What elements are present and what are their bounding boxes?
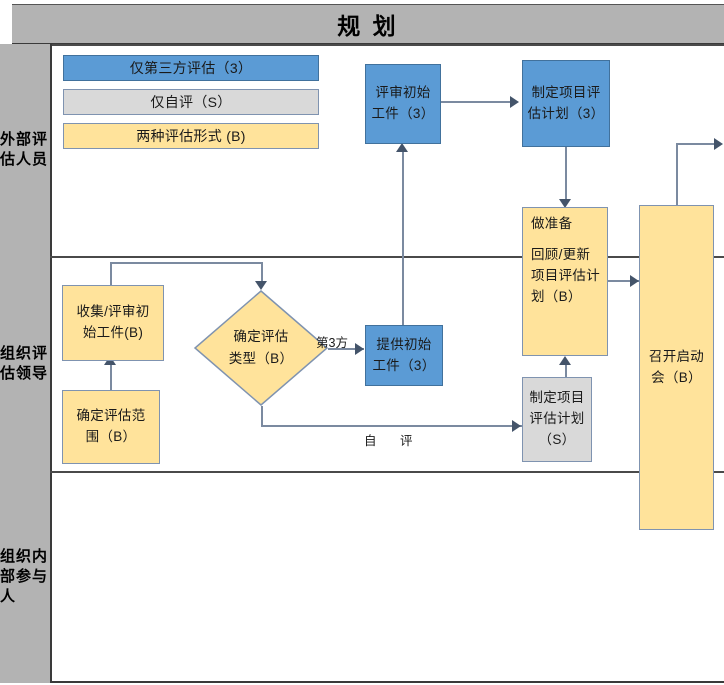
node-line: 工件（3）	[371, 104, 434, 125]
legend-item-third-party: 仅第三方评估（3）	[63, 55, 319, 81]
edge-label-self-assessment: 自 评	[364, 430, 422, 449]
node-line: 会（B）	[651, 368, 702, 389]
lane-header-external: 外部评估人员	[0, 44, 52, 256]
decision-line: 类型（B）	[229, 348, 294, 370]
legend-item-both: 两种评估形式 (B)	[63, 123, 319, 149]
arrowhead-provide-to-review	[396, 143, 408, 152]
edge-scope-to-collect	[110, 362, 112, 390]
node-make-project-plan-s[interactable]: 制定项目 评估计划 （S）	[522, 377, 592, 462]
node-provide-initial-artifacts[interactable]: 提供初始 工件（3）	[365, 325, 443, 386]
legend-label-third-party: 仅第三方评估（3）	[130, 58, 253, 78]
decision-line: 确定评估	[233, 326, 288, 348]
lane-divider-2	[50, 471, 724, 473]
node-review-initial-artifacts[interactable]: 评审初始 工件（3）	[365, 64, 441, 144]
arrowhead-prepare-to-kickoff	[630, 275, 639, 287]
lane-label-internal: 组织内部参与人	[0, 547, 50, 606]
node-line: 召开启动	[649, 347, 704, 368]
node-make-project-plan-3[interactable]: 制定项目评 估计划（3）	[522, 60, 610, 147]
frame-bottom-border	[0, 681, 724, 683]
edge-kickoff-out-right	[676, 143, 718, 145]
node-line: 制定项目评	[532, 83, 601, 104]
node-line: 项目评估计	[531, 266, 600, 287]
lane-divider-1	[50, 256, 724, 258]
lane-label-external: 外部评估人员	[0, 130, 50, 170]
lane-header-leader: 组织评估领导	[0, 256, 52, 471]
edge-kickoff-up	[676, 143, 678, 207]
node-prepare-review-update[interactable]: 做准备 回顾/更新 项目评估计 划（B）	[522, 207, 608, 356]
arrowhead-kickoff-out	[714, 138, 723, 150]
arrowhead-plans-to-prepare	[559, 356, 571, 365]
lane-label-leader: 组织评估领导	[0, 344, 50, 384]
edge-decision-self-across	[261, 425, 523, 427]
node-line: 确定评估范	[77, 406, 146, 427]
node-line: 估计划（3）	[528, 104, 605, 125]
node-collect-review-artifacts[interactable]: 收集/评审初 始工件(B)	[62, 285, 164, 361]
page-title: 规 划	[337, 7, 398, 41]
arrowhead-review-to-plan3	[510, 96, 519, 108]
diagram-canvas: 规 划 外部评估人员 组织评估领导 组织内部参与人 仅第三方评估（3） 仅自评（…	[0, 0, 724, 685]
edge-label-third-party: 第3方	[316, 332, 348, 351]
node-line: 制定项目	[529, 388, 584, 409]
node-hold-kickoff[interactable]: 召开启动 会（B）	[639, 205, 714, 530]
node-line: 回顾/更新	[531, 245, 590, 266]
lane-header-internal: 组织内部参与人	[0, 471, 52, 683]
node-line: 收集/评审初	[76, 302, 149, 323]
node-line: （S）	[539, 430, 576, 451]
node-define-scope[interactable]: 确定评估范 围（B）	[62, 390, 160, 464]
edge-decision-self-down	[261, 406, 263, 426]
node-line: 划（B）	[531, 287, 582, 308]
legend-label-self: 仅自评（S）	[150, 92, 231, 112]
legend-label-both: 两种评估形式 (B)	[136, 126, 246, 146]
frame-top-border	[50, 44, 724, 46]
edge-collect-across	[110, 262, 262, 264]
arrowhead-decision-third-party	[355, 343, 364, 355]
arrowhead-decision-self	[512, 420, 521, 432]
node-line: 提供初始	[376, 335, 431, 356]
node-line: 评审初始	[375, 83, 430, 104]
node-line: 评估计划	[529, 409, 584, 430]
edge-plan3-to-prepare	[565, 146, 567, 202]
node-line: 工件（3）	[372, 356, 435, 377]
node-line: 围（B）	[86, 427, 137, 448]
decision-label: 确定评估 类型（B）	[193, 289, 329, 407]
decision-determine-assessment-type[interactable]: 确定评估 类型（B）	[193, 289, 329, 407]
node-line: 做准备	[531, 214, 572, 235]
edge-review-to-plan3	[440, 101, 512, 103]
edge-collect-up	[110, 262, 112, 286]
legend-item-self: 仅自评（S）	[63, 89, 319, 115]
edge-provide-vertical-upper	[402, 258, 404, 326]
node-line: 始工件(B)	[83, 323, 143, 344]
diagram-title-bar: 规 划	[12, 4, 724, 45]
